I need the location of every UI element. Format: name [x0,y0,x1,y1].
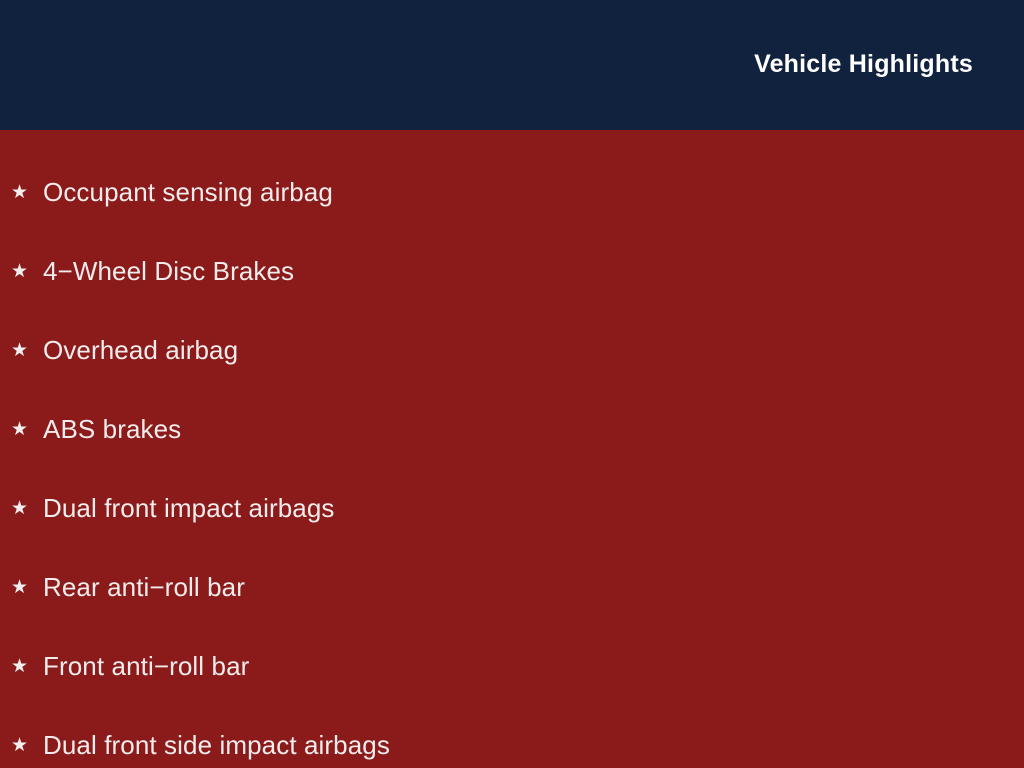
star-bullet-icon: ★ [11,183,43,202]
slide-header-banner: Vehicle Highlights [0,0,1024,130]
page-title: Vehicle Highlights [754,52,973,77]
feature-label: Dual front impact airbags [43,494,335,524]
list-item: ★ Overhead airbag [0,311,1024,390]
star-bullet-icon: ★ [11,262,43,281]
star-bullet-icon: ★ [11,578,43,597]
list-item: ★ 4−Wheel Disc Brakes [0,232,1024,311]
feature-label: 4−Wheel Disc Brakes [43,257,294,287]
feature-label: ABS brakes [43,415,181,445]
list-item: ★ Dual front side impact airbags [0,706,1024,768]
star-bullet-icon: ★ [11,657,43,676]
star-bullet-icon: ★ [11,499,43,518]
list-item: ★ Occupant sensing airbag [0,153,1024,232]
slide-body: ★ Occupant sensing airbag ★ 4−Wheel Disc… [0,130,1024,768]
feature-label: Rear anti−roll bar [43,573,245,603]
star-bullet-icon: ★ [11,420,43,439]
feature-label: Overhead airbag [43,336,238,366]
list-item: ★ Front anti−roll bar [0,627,1024,706]
vehicle-highlights-slide: Vehicle Highlights ★ Occupant sensing ai… [0,0,1024,768]
list-item: ★ Dual front impact airbags [0,469,1024,548]
feature-label: Occupant sensing airbag [43,178,333,208]
feature-label: Dual front side impact airbags [43,731,390,761]
star-bullet-icon: ★ [11,736,43,755]
feature-label: Front anti−roll bar [43,652,249,682]
star-bullet-icon: ★ [11,341,43,360]
list-item: ★ Rear anti−roll bar [0,548,1024,627]
list-item: ★ ABS brakes [0,390,1024,469]
vehicle-feature-list: ★ Occupant sensing airbag ★ 4−Wheel Disc… [0,153,1024,768]
